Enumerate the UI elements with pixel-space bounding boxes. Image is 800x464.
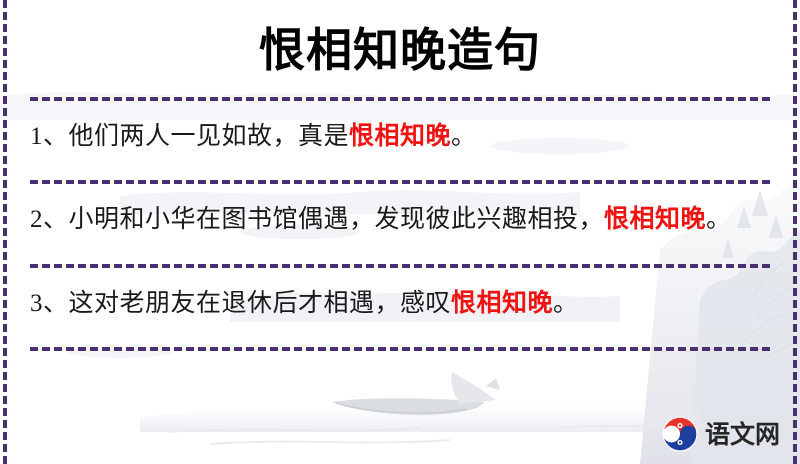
divider-rule-4 xyxy=(30,347,770,351)
sentence-1-index: 1、 xyxy=(30,123,69,150)
site-logo[interactable]: 语文网 xyxy=(656,412,786,456)
slide-page: 恨相知晚造句 1、他们两人一见如故，真是恨相知晚。 2、小明和小华在图书馆偶遇，… xyxy=(0,0,800,464)
content-column: 恨相知晚造句 1、他们两人一见如故，真是恨相知晚。 2、小明和小华在图书馆偶遇，… xyxy=(0,0,800,464)
sentence-3-idiom: 恨相知晚 xyxy=(451,290,553,317)
sentence-3-index: 3、 xyxy=(30,290,69,317)
frame-border-left xyxy=(3,0,7,464)
sentence-item-2: 2、小明和小华在图书馆偶遇，发现彼此兴趣相投，恨相知晚。 xyxy=(16,202,784,239)
sentence-2-text-after: 。 xyxy=(706,206,732,233)
divider-rule-2 xyxy=(30,180,770,184)
divider-rule-3 xyxy=(30,264,770,268)
sentence-item-3: 3、这对老朋友在退休后才相遇，感叹恨相知晚。 xyxy=(16,286,784,323)
sentence-2-idiom: 恨相知晚 xyxy=(604,206,706,233)
sentence-3-text-before: 这对老朋友在退休后才相遇，感叹 xyxy=(69,290,452,317)
sentence-1-text-after: 。 xyxy=(451,123,477,150)
divider-rule-1 xyxy=(30,97,770,101)
taiji-logo-icon xyxy=(662,416,698,452)
frame-border-right xyxy=(793,0,797,464)
sentence-3-text-after: 。 xyxy=(553,290,579,317)
sentence-2-index: 2、 xyxy=(30,206,69,233)
page-title: 恨相知晚造句 xyxy=(16,0,784,80)
sentence-1-idiom: 恨相知晚 xyxy=(349,123,451,150)
sentence-item-1: 1、他们两人一见如故，真是恨相知晚。 xyxy=(16,119,784,156)
sentence-1-text-before: 他们两人一见如故，真是 xyxy=(69,123,350,150)
sentence-2-text-before: 小明和小华在图书馆偶遇，发现彼此兴趣相投， xyxy=(69,206,605,233)
logo-text: 语文网 xyxy=(705,422,780,447)
